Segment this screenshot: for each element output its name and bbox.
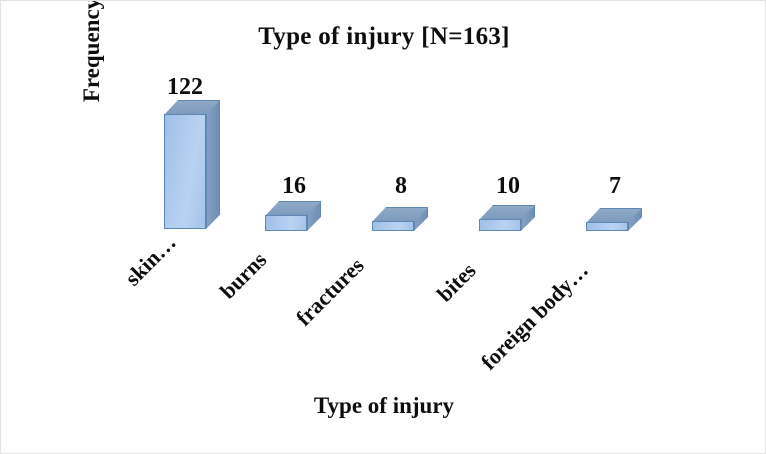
chart-figure: Type of injury [N=163] Frequency 122 16 … [0, 0, 766, 454]
bar-front-face [372, 221, 414, 231]
x-tick-label-burns: burns [215, 247, 272, 304]
plot-area: 122 16 8 10 7 [1, 1, 766, 454]
bar-value-label: 16 [249, 173, 339, 200]
bar-side-face [206, 100, 220, 229]
bar-front-face [265, 215, 307, 231]
bar-value-label: 8 [356, 173, 446, 200]
x-axis-title: Type of injury [1, 393, 766, 419]
bar-value-label: 122 [140, 74, 230, 101]
x-tick-label-foreign-body: foreign body… [476, 257, 594, 375]
x-tick-label-fractures: fractures [291, 253, 370, 332]
bar-front-face [479, 219, 521, 231]
bar-value-label: 7 [570, 173, 660, 200]
x-tick-label-bites: bites [432, 258, 481, 307]
bar-value-label: 10 [463, 173, 553, 200]
x-tick-label-skin: skin… [120, 230, 182, 292]
bar-front-face [164, 114, 206, 229]
bar-front-face [586, 222, 628, 231]
